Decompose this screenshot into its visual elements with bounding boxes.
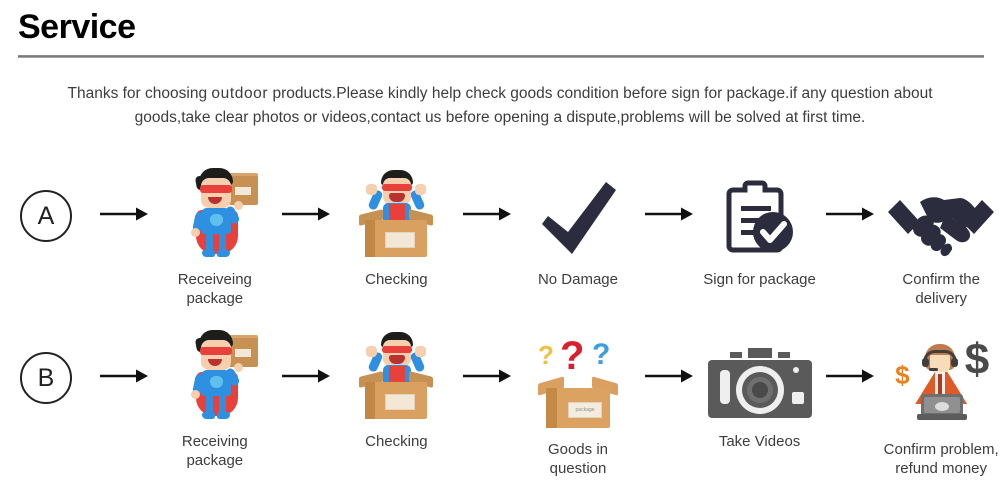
step-a-5: Confirm the delivery — [882, 168, 1000, 308]
handshake-icon — [886, 168, 996, 260]
step-b-5: $ $ Confirm problem, refund money — [882, 330, 1000, 478]
question-mark-red: ? — [560, 334, 584, 379]
step-a-1: Receiveing package — [156, 168, 274, 308]
row-badge-b: B — [20, 352, 72, 404]
dollar-sign-small: $ — [895, 362, 909, 388]
checkmark-icon — [536, 168, 620, 260]
question-mark-yellow: ? — [538, 340, 554, 371]
arrow-icon — [818, 168, 882, 222]
step-b-2: Checking — [338, 330, 456, 451]
row-a-badge-cell: A — [0, 168, 92, 242]
header-divider — [18, 55, 984, 58]
step-label-line2: refund money — [895, 460, 987, 477]
question-mark-blue: ? — [592, 338, 610, 372]
step-a-2: Checking — [338, 168, 456, 289]
arrow-icon — [455, 330, 519, 384]
arrow-icon — [637, 168, 701, 222]
step-label: Sign for package — [703, 270, 816, 289]
arrow-icon — [274, 330, 338, 384]
step-a-4: Sign for package — [701, 168, 819, 289]
step-label: Goods in question — [519, 440, 637, 478]
step-label: Receiving package — [156, 432, 274, 470]
flow-row-a: A Receiveing package — [0, 168, 1000, 308]
arrow-icon — [274, 168, 338, 222]
row-b-badge-cell: B — [0, 330, 92, 404]
arrow-icon — [92, 168, 156, 222]
open-box-question-marks-icon: ? ? ? package — [532, 330, 624, 430]
row-badge-a: A — [20, 190, 72, 242]
person-in-open-box-icon — [353, 168, 439, 260]
intro-paragraph: Thanks for choosing outdoor products.Ple… — [40, 82, 960, 130]
service-info-panel: Service Thanks for choosing outdoor prod… — [0, 0, 1000, 491]
clipboard-check-icon — [723, 168, 797, 260]
step-label-line1: Confirm problem, — [884, 441, 999, 458]
step-a-3: No Damage — [519, 168, 637, 289]
intro-line2: goods,take clear photos or videos,contac… — [135, 109, 866, 126]
step-label: Checking — [365, 432, 428, 451]
step-label: Confirm problem, refund money — [884, 440, 999, 478]
step-label: Confirm the delivery — [882, 270, 1000, 308]
step-b-4: Take Videos — [701, 330, 819, 451]
step-label: Checking — [365, 270, 428, 289]
camera-icon — [708, 330, 812, 422]
arrow-icon — [637, 330, 701, 384]
step-label: Take Videos — [719, 432, 800, 451]
arrow-icon — [818, 330, 882, 384]
arrow-icon — [455, 168, 519, 222]
step-b-1: Receiving package — [156, 330, 274, 470]
step-label: Receiveing package — [156, 270, 274, 308]
support-agent-dollar-icon: $ $ — [891, 330, 991, 430]
page-title: Service — [18, 8, 136, 47]
box-label-tag: package — [568, 402, 602, 418]
arrow-icon — [92, 330, 156, 384]
intro-line1-part1: Thanks for choosing — [67, 85, 207, 102]
intro-keyword-outdoor: outdoor — [211, 85, 268, 102]
intro-line1-part2: products.Please kindly help check goods … — [272, 85, 932, 102]
dollar-sign-large: $ — [965, 338, 989, 382]
superhero-with-package-icon — [172, 330, 258, 422]
person-in-open-box-icon — [353, 330, 439, 422]
superhero-with-package-icon — [172, 168, 258, 260]
step-b-3: ? ? ? package Goods in question — [519, 330, 637, 478]
flow-row-b: B Receiving package — [0, 330, 1000, 478]
step-label: No Damage — [538, 270, 618, 289]
